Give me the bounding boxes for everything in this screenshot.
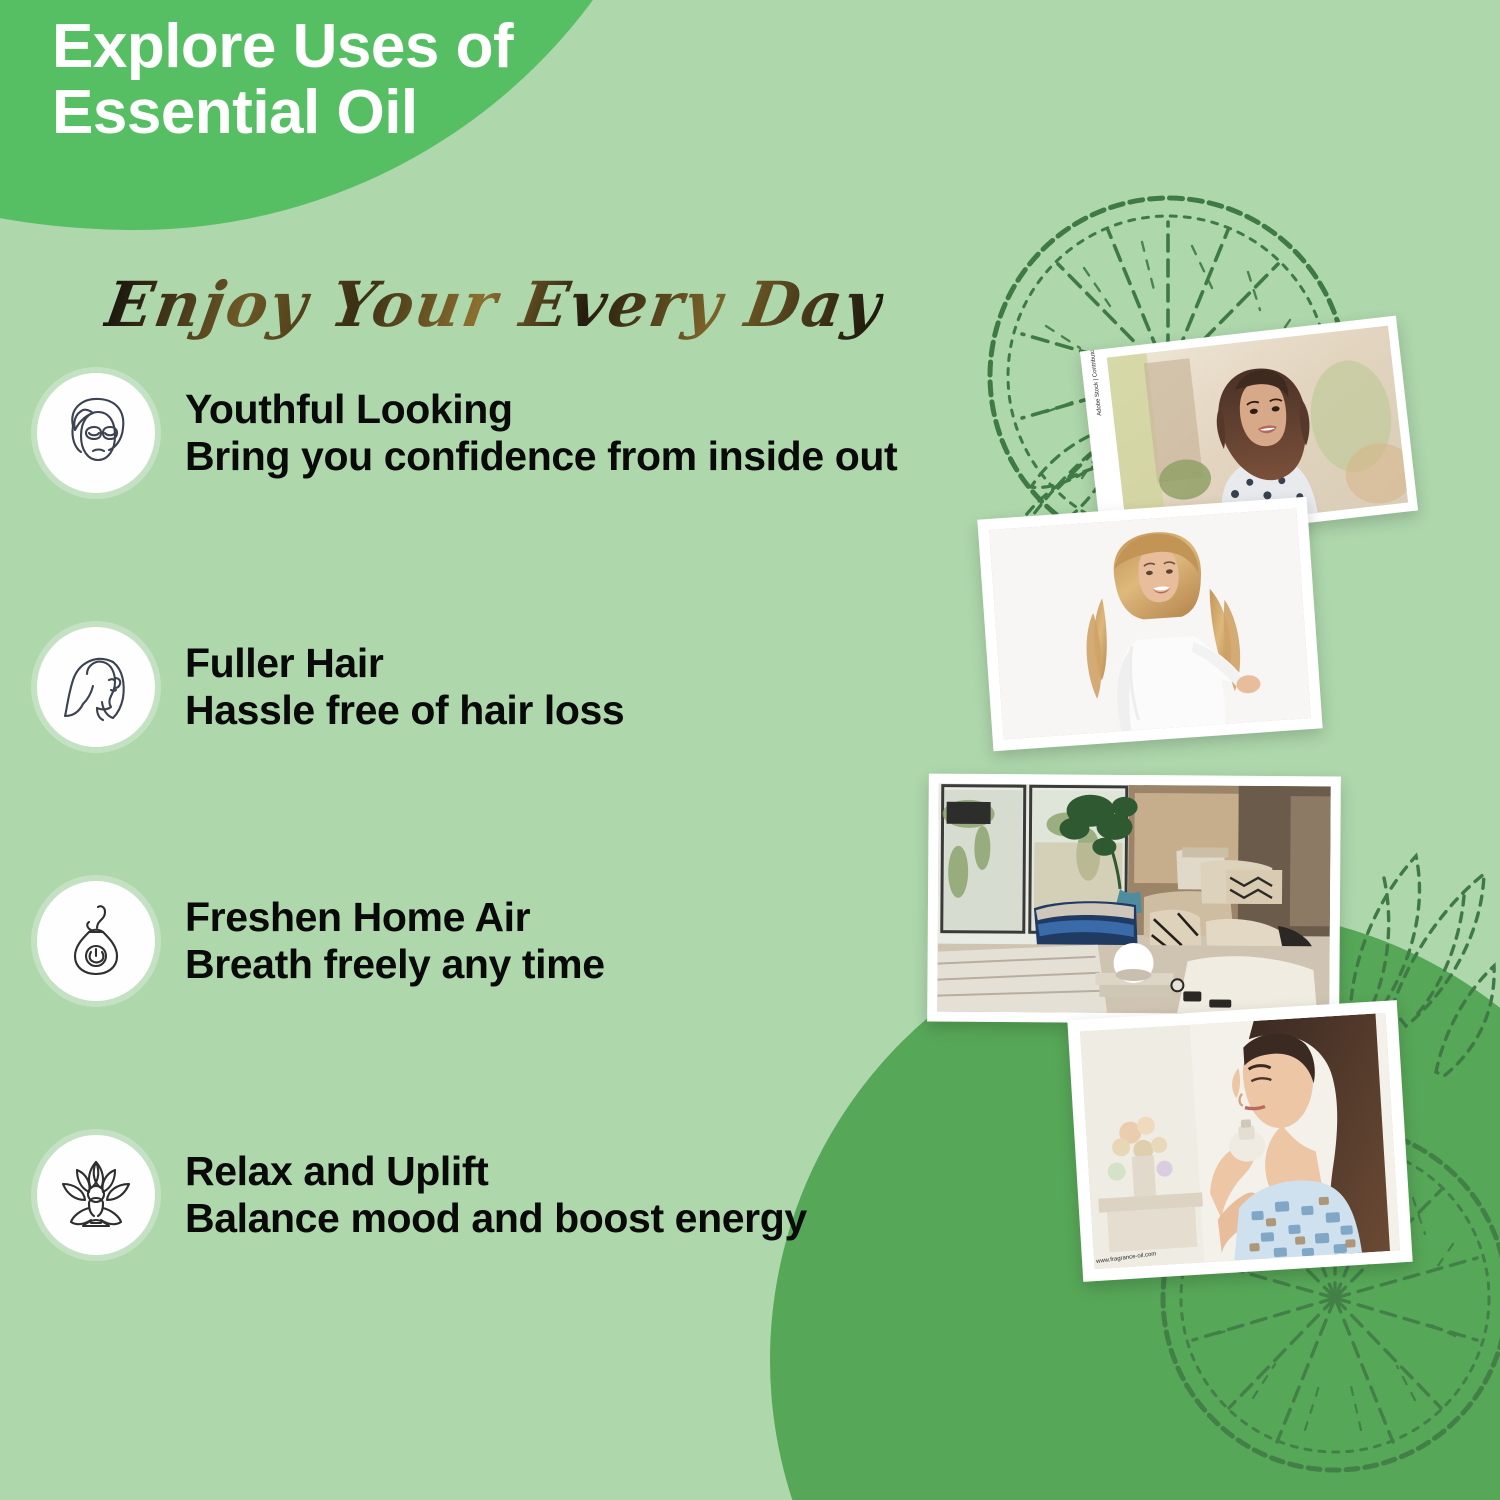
photo-applying-fragrance: www.fragrance-oil.com <box>1067 1000 1412 1282</box>
feature-text-block: Freshen Home Air Breath freely any time <box>185 894 605 987</box>
infographic-canvas: Explore Uses of Essential Oil Enjoy Your… <box>0 0 1500 1500</box>
aroma-diffuser-icon <box>37 881 155 1001</box>
photo-wavy-blonde-hair <box>977 497 1322 751</box>
feature-title: Freshen Home Air <box>185 894 530 940</box>
feature-subtitle: Breath freely any time <box>185 941 605 988</box>
photo-living-room <box>927 774 1341 1025</box>
feature-item-freshen-home-air: Freshen Home Air Breath freely any time <box>0 880 1060 1002</box>
feature-text-block: Relax and Uplift Balance mood and boost … <box>185 1148 807 1241</box>
lotus-meditation-icon <box>37 1135 155 1255</box>
feature-subtitle: Bring you confidence from inside out <box>185 433 897 480</box>
feature-subtitle: Hassle free of hair loss <box>185 687 624 734</box>
long-hair-profile-icon <box>37 627 155 747</box>
feature-item-fuller-hair: Fuller Hair Hassle free of hair loss <box>0 626 1060 748</box>
feature-title: Fuller Hair <box>185 640 383 686</box>
feature-text-block: Youthful Looking Bring you confidence fr… <box>185 386 897 479</box>
feature-item-relax-and-uplift: Relax and Uplift Balance mood and boost … <box>0 1134 1060 1256</box>
photo-wavy-blonde-hair-image <box>989 509 1311 740</box>
feature-item-youthful-looking: Youthful Looking Bring you confidence fr… <box>0 372 1060 494</box>
page-title: Explore Uses of Essential Oil <box>52 14 513 147</box>
feature-text-block: Fuller Hair Hassle free of hair loss <box>185 640 624 733</box>
feature-subtitle: Balance mood and boost energy <box>185 1195 807 1242</box>
photo-applying-fragrance-image <box>1080 1013 1400 1269</box>
feature-title: Youthful Looking <box>185 386 513 432</box>
feature-list: Youthful Looking Bring you confidence fr… <box>0 372 1060 1256</box>
tagline-script-text: Enjoy Your Every Day <box>100 268 888 341</box>
facial-mask-icon <box>37 373 155 493</box>
photo-living-room-image <box>937 784 1331 1015</box>
photo-edge-label: Adobe Stock | Contributor <box>1090 347 1104 416</box>
feature-title: Relax and Uplift <box>185 1148 488 1194</box>
